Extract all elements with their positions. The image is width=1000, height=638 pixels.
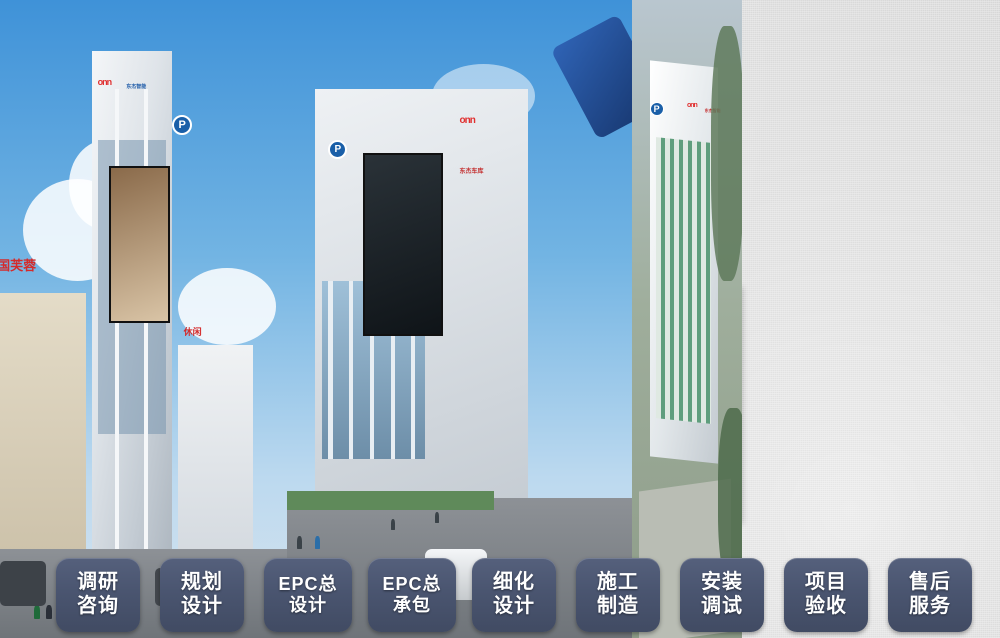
- step-line1: EPC总: [278, 574, 337, 595]
- step-line2: 服务: [909, 595, 951, 619]
- process-step-acceptance[interactable]: 项目验收: [784, 558, 868, 632]
- billboard-screen: [363, 153, 443, 336]
- process-step-manufacturing[interactable]: 施工制造: [576, 558, 660, 632]
- step-line1: 售后: [909, 571, 951, 595]
- step-line1: 施工: [597, 571, 639, 595]
- sign-right: 休闲: [184, 325, 202, 338]
- trees: [711, 26, 742, 281]
- sign-left: 国芙蓉: [0, 255, 36, 274]
- step-line2: 验收: [805, 595, 847, 619]
- process-step-after-sales[interactable]: 售后服务: [888, 558, 972, 632]
- step-line1: 调研: [77, 571, 119, 595]
- billboard-ad: [109, 166, 170, 323]
- rendering-parking-tower: onn 东杰智能 P 国芙蓉 休闲: [0, 0, 287, 638]
- brand-name-cn: 东杰车库: [460, 166, 484, 175]
- step-line1: EPC总: [382, 574, 441, 595]
- step-line2: 设计: [493, 595, 535, 619]
- step-line2: 设计: [181, 595, 223, 619]
- step-line2: 调试: [701, 595, 743, 619]
- rendering-parking-garage: onn 东杰车库 P: [287, 0, 632, 638]
- process-step-detail-design[interactable]: 细化设计: [472, 558, 556, 632]
- process-step-epc-design[interactable]: EPC总设计: [264, 558, 352, 632]
- process-step-installation[interactable]: 安装调试: [680, 558, 764, 632]
- brand-name-cn: 东杰智能: [126, 83, 146, 90]
- parking-badge: P: [172, 115, 192, 135]
- process-step-epc-contract[interactable]: EPC总承包: [368, 558, 456, 632]
- rendering-aerial-tower: onn 东杰智能 P: [632, 0, 742, 638]
- rendering-collage-panel: onn 东杰智能 P 国芙蓉 休闲 onn: [0, 285, 742, 522]
- process-step-planning[interactable]: 规划设计: [160, 558, 244, 632]
- process-step-survey[interactable]: 调研咨询: [56, 558, 140, 632]
- brand-logo: onn: [687, 102, 697, 109]
- parking-badge: P: [650, 102, 664, 116]
- step-line2: 设计: [289, 595, 327, 616]
- tower-green-facade: [656, 137, 711, 423]
- step-line1: 安装: [701, 571, 743, 595]
- poster-background: 停车场规划设计 停车场EPC工程总承包 停车场建设 城市智慧停车平台建设: [0, 0, 1000, 638]
- step-line1: 细化: [493, 571, 535, 595]
- step-line2: 制造: [597, 595, 639, 619]
- brand-logo: onn: [460, 115, 475, 126]
- step-line1: 规划: [181, 571, 223, 595]
- step-line2: 承包: [393, 595, 431, 616]
- step-line1: 项目: [805, 571, 847, 595]
- process-steps-bar: 调研咨询 规划设计 EPC总设计 EPC总承包 细化设计 施工制造 安装调试 项…: [56, 558, 961, 632]
- brand-logo: onn: [98, 77, 112, 87]
- step-line2: 咨询: [77, 595, 119, 619]
